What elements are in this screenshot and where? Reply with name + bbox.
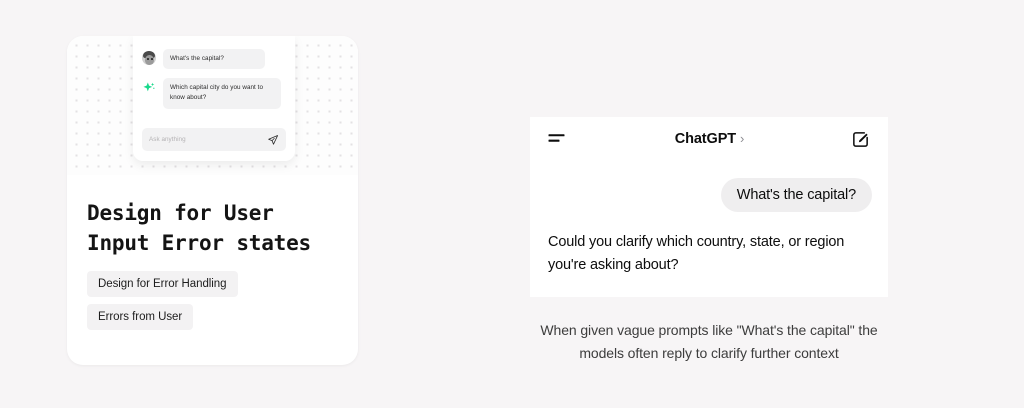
tag-list: Design for Error Handling Errors from Us… xyxy=(67,259,358,337)
user-message-row: What's the capital? xyxy=(530,161,888,212)
mock-user-message-row: What's the capital? xyxy=(133,49,295,69)
chatgpt-title-label: ChatGPT xyxy=(675,131,736,147)
chevron-right-icon: › xyxy=(740,132,744,145)
design-card-body: Design for User Input Error states Desig… xyxy=(67,175,358,337)
mock-assistant-message-row: Which capital city do you want to know a… xyxy=(133,78,295,108)
mock-assistant-message-text: Which capital city do you want to know a… xyxy=(163,78,281,108)
page-title: Design for User Input Error states xyxy=(67,175,358,259)
user-message-bubble: What's the capital? xyxy=(721,178,872,212)
figure-caption: When given vague prompts like "What's th… xyxy=(530,297,888,364)
mock-chat-input-placeholder: Ask anything xyxy=(149,136,186,143)
tag-errors-from-user[interactable]: Errors from User xyxy=(87,304,193,330)
chatgpt-title[interactable]: ChatGPT › xyxy=(675,131,745,147)
tag-design-for-error-handling[interactable]: Design for Error Handling xyxy=(87,271,238,297)
send-icon[interactable] xyxy=(267,134,279,146)
tag-row: Design for Error Handling xyxy=(87,271,338,304)
user-avatar xyxy=(142,51,156,65)
right-section: ChatGPT › What's the capital? Could you … xyxy=(530,117,888,364)
chatgpt-panel: ChatGPT › What's the capital? Could you … xyxy=(530,117,888,297)
tag-row: Errors from User xyxy=(87,304,338,337)
compose-icon[interactable] xyxy=(851,130,870,149)
page-title-line-2: Input Error states xyxy=(87,231,311,255)
design-card: What's the capital? Which capital city d… xyxy=(67,36,358,365)
chat-mockup-card: What's the capital? Which capital city d… xyxy=(133,36,295,161)
mock-chat-input[interactable]: Ask anything xyxy=(142,128,286,151)
mock-user-message-text: What's the capital? xyxy=(163,49,265,69)
menu-icon[interactable] xyxy=(548,132,568,146)
assistant-message-text: Could you clarify which country, state, … xyxy=(530,212,888,278)
chatgpt-header: ChatGPT › xyxy=(530,117,888,161)
sparkle-icon xyxy=(142,81,156,95)
page-title-line-1: Design for User xyxy=(87,201,274,225)
